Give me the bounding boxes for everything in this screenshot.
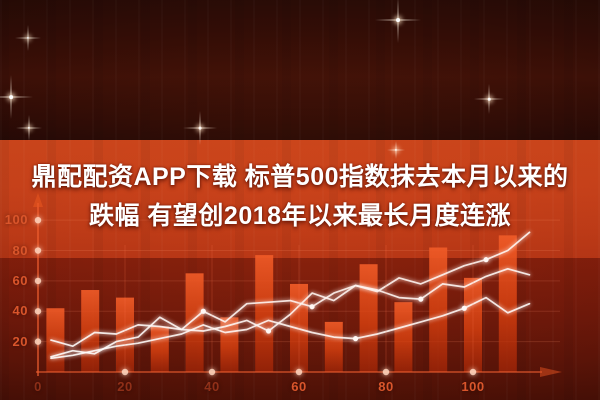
x-tick-dot-20 [122, 369, 128, 375]
x-axis-arrow-icon [540, 367, 562, 377]
stock-chart [0, 0, 600, 400]
bar [325, 322, 343, 372]
data-point-marker [483, 257, 488, 262]
promo-banner-image: 20406080100020406080100 鼎配配资APP下载 标普500指… [0, 0, 600, 400]
bar [255, 255, 273, 372]
bar-group [46, 235, 516, 372]
x-tick-dot-60 [296, 369, 302, 375]
y-tick-dot-20 [35, 338, 41, 344]
y-axis-arrow-icon [33, 193, 43, 207]
bar [394, 302, 412, 372]
data-point-marker [418, 297, 423, 302]
data-point-marker [462, 306, 467, 311]
y-tick-dot-80 [35, 247, 41, 253]
data-point-marker [309, 304, 314, 309]
bar [151, 326, 169, 372]
x-tick-dot-80 [383, 369, 389, 375]
bar [46, 308, 64, 372]
x-tick-dot-40 [209, 369, 215, 375]
bar [360, 264, 378, 372]
y-tick-dot-100 [35, 217, 41, 223]
x-tick-dot-100 [470, 369, 476, 375]
bar [499, 235, 517, 372]
data-point-marker [353, 336, 358, 341]
bar [429, 248, 447, 372]
data-point-marker [266, 328, 271, 333]
y-tick-dot-40 [35, 308, 41, 314]
bar [186, 273, 204, 372]
y-tick-dot-60 [35, 278, 41, 284]
bar [81, 290, 99, 372]
data-point-marker [201, 309, 206, 314]
